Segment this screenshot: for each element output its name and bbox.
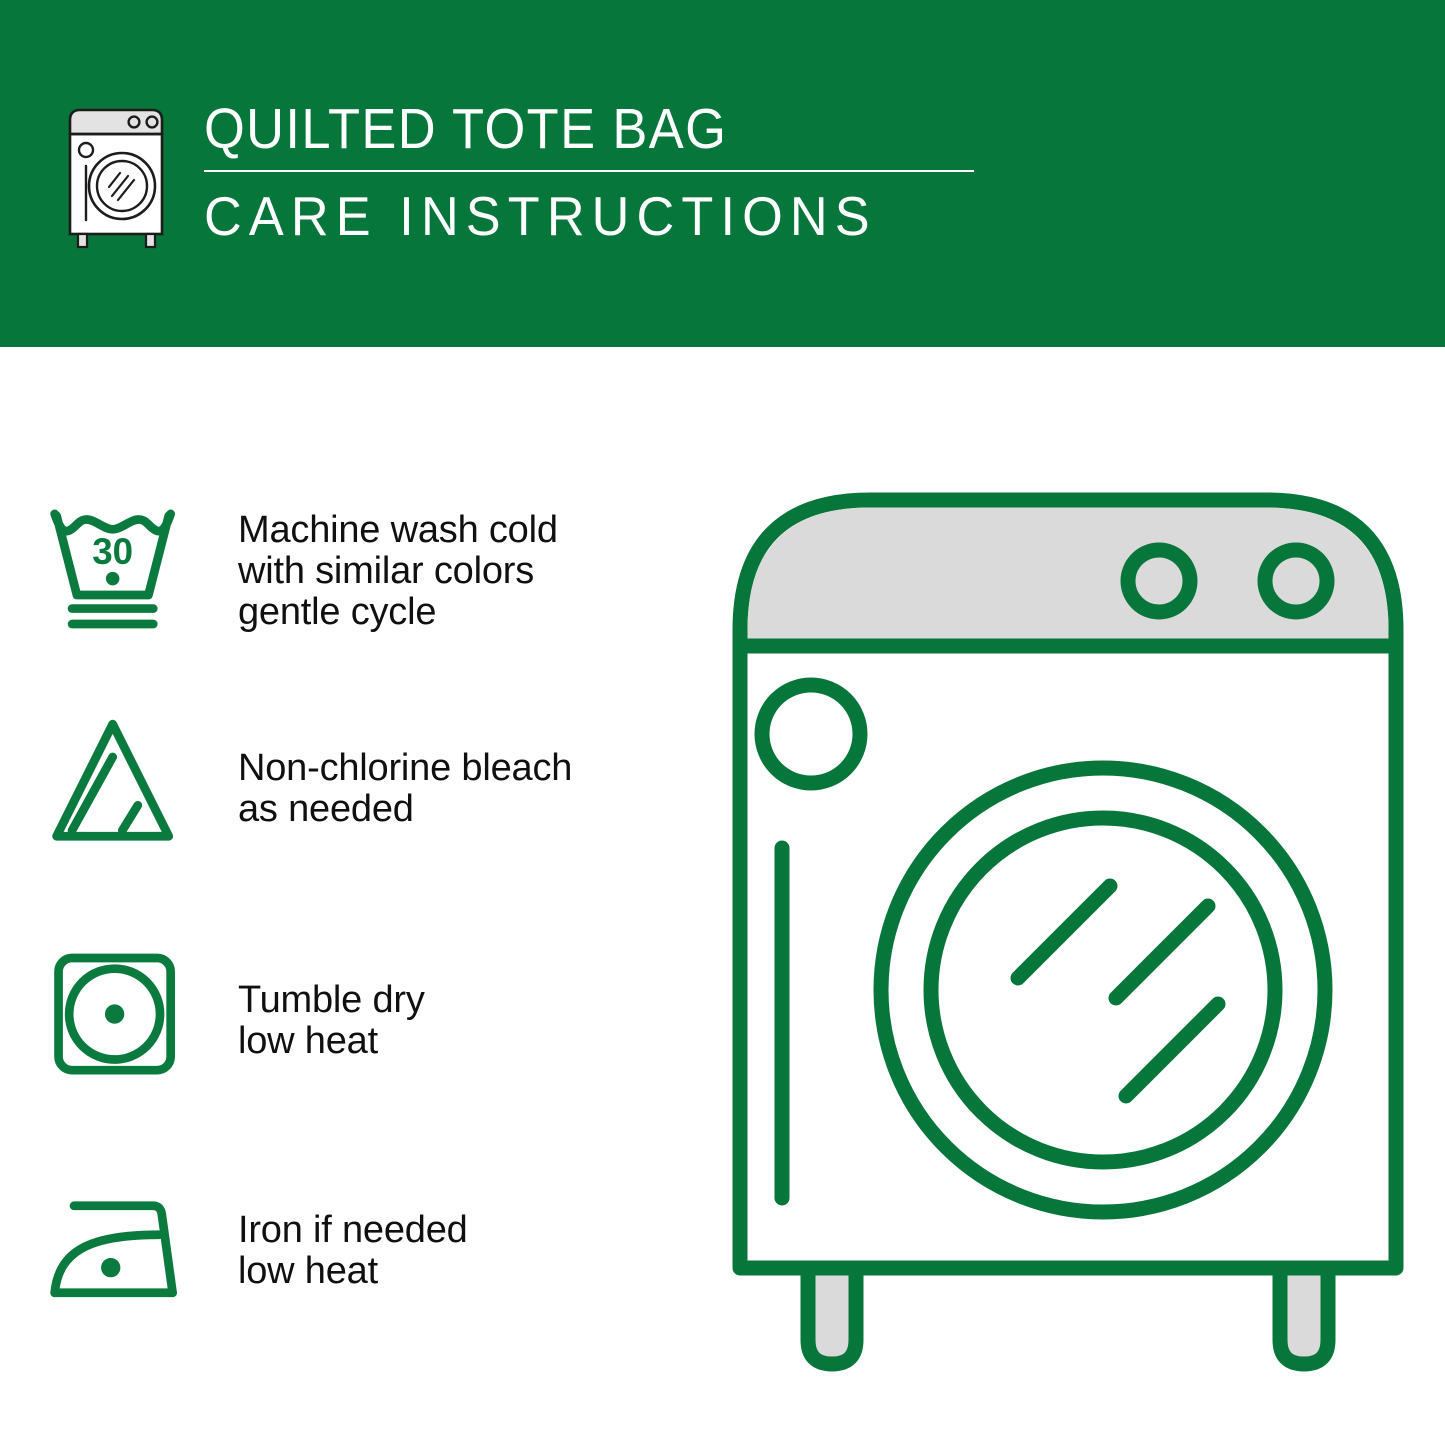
care-text-line: Tumble dry xyxy=(238,980,700,1021)
care-text-line: Iron if needed xyxy=(238,1210,700,1251)
care-text-line: Machine wash cold xyxy=(238,510,700,551)
care-text-line: with similar colors xyxy=(238,551,700,592)
care-text-line: low heat xyxy=(238,1021,700,1062)
care-text-line: gentle cycle xyxy=(238,592,700,633)
iron-low-heat-icon xyxy=(0,1160,190,1332)
washer-leg xyxy=(808,1268,856,1364)
washing-machine-icon xyxy=(62,104,178,249)
header-divider xyxy=(204,170,974,172)
washer-control-panel xyxy=(748,508,1389,647)
care-row-tumble-dry: Tumble dry low heat xyxy=(0,930,700,1160)
header-band: QUILTED TOTE BAG CARE INSTRUCTIONS xyxy=(0,0,1445,347)
care-instructions-page: QUILTED TOTE BAG CARE INSTRUCTIONS xyxy=(0,0,1445,1445)
tumble-dry-low-icon xyxy=(0,930,190,1092)
care-text-bleach: Non-chlorine bleach as needed xyxy=(238,700,700,830)
care-row-bleach: Non-chlorine bleach as needed xyxy=(0,700,700,930)
care-text-line: Non-chlorine bleach xyxy=(238,748,700,789)
washer-leg xyxy=(1280,1268,1328,1364)
page-title: QUILTED TOTE BAG xyxy=(204,98,938,160)
header-titles: QUILTED TOTE BAG CARE INSTRUCTIONS xyxy=(204,98,1002,246)
care-text-machine-wash: Machine wash cold with similar colors ge… xyxy=(238,470,700,633)
header-content: QUILTED TOTE BAG CARE INSTRUCTIONS xyxy=(62,98,1002,263)
page-subtitle: CARE INSTRUCTIONS xyxy=(204,186,962,246)
front-load-washing-machine-illustration xyxy=(718,478,1418,1378)
care-text-line: low heat xyxy=(238,1251,700,1292)
care-instructions-list: 30 Machine wash cold with similar colors… xyxy=(0,470,700,1390)
care-row-iron: Iron if needed low heat xyxy=(0,1160,700,1390)
care-text-tumble-dry: Tumble dry low heat xyxy=(238,930,700,1062)
wash-temperature-label: 30 xyxy=(92,531,133,572)
wash-basin-30-gentle-icon: 30 xyxy=(0,470,190,642)
care-text-iron: Iron if needed low heat xyxy=(238,1160,700,1292)
care-text-line: as needed xyxy=(238,789,700,830)
non-chlorine-bleach-triangle-icon xyxy=(0,700,190,860)
care-row-machine-wash: 30 Machine wash cold with similar colors… xyxy=(0,470,700,700)
